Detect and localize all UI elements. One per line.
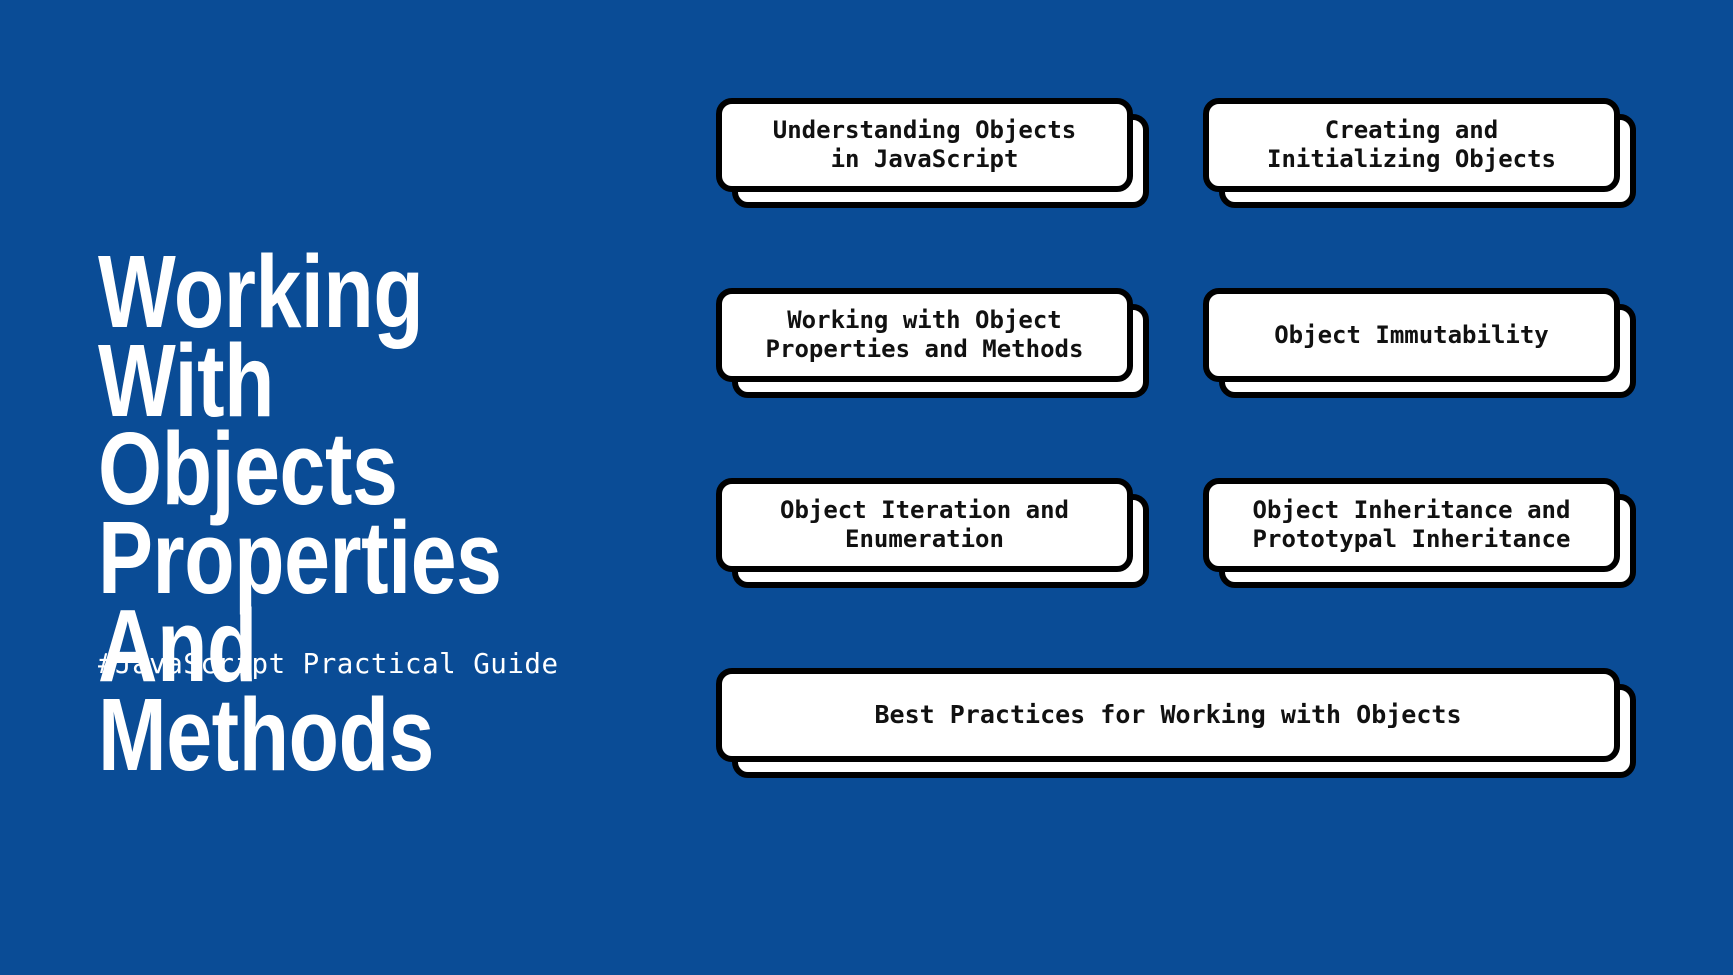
- topic-card[interactable]: Object Iteration and Enumeration: [716, 478, 1133, 572]
- card-face[interactable]: Creating and Initializing Objects: [1203, 98, 1620, 192]
- title-block: Working With Objects Properties And Meth…: [98, 248, 618, 779]
- card-face[interactable]: Working with Object Properties and Metho…: [716, 288, 1133, 382]
- page-title: Working With Objects Properties And Meth…: [98, 248, 514, 779]
- topic-card[interactable]: Creating and Initializing Objects: [1203, 98, 1620, 192]
- page-subtitle: #JavaScript Practical Guide: [98, 648, 559, 680]
- card-label: Best Practices for Working with Objects: [875, 700, 1462, 730]
- slide-canvas: Working With Objects Properties And Meth…: [0, 0, 1733, 975]
- card-face[interactable]: Object Inheritance and Prototypal Inheri…: [1203, 478, 1620, 572]
- card-face[interactable]: Object Immutability: [1203, 288, 1620, 382]
- topic-card[interactable]: Object Inheritance and Prototypal Inheri…: [1203, 478, 1620, 572]
- topic-card[interactable]: Best Practices for Working with Objects: [716, 668, 1620, 762]
- card-face[interactable]: Object Iteration and Enumeration: [716, 478, 1133, 572]
- card-face[interactable]: Best Practices for Working with Objects: [716, 668, 1620, 762]
- card-label: Creating and Initializing Objects: [1267, 116, 1556, 174]
- card-label: Object Iteration and Enumeration: [780, 496, 1069, 554]
- card-label: Object Inheritance and Prototypal Inheri…: [1253, 496, 1571, 554]
- card-label: Object Immutability: [1274, 321, 1549, 350]
- topic-card[interactable]: Understanding Objects in JavaScript: [716, 98, 1133, 192]
- card-label: Understanding Objects in JavaScript: [773, 116, 1076, 174]
- topic-card[interactable]: Object Immutability: [1203, 288, 1620, 382]
- topic-card[interactable]: Working with Object Properties and Metho…: [716, 288, 1133, 382]
- card-face[interactable]: Understanding Objects in JavaScript: [716, 98, 1133, 192]
- card-label: Working with Object Properties and Metho…: [766, 306, 1084, 364]
